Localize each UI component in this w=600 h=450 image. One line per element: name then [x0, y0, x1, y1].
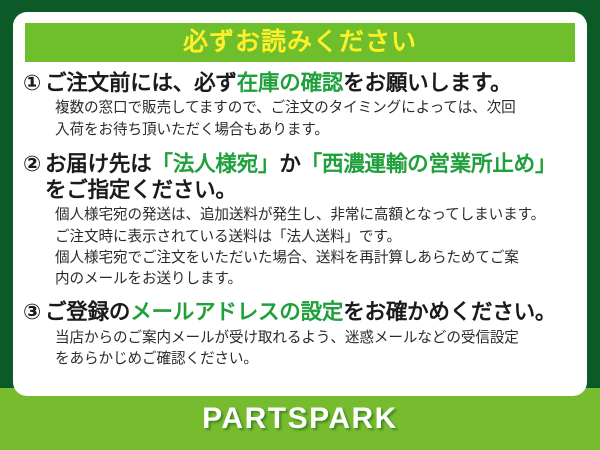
- title-banner: 必ずお読みください: [25, 23, 575, 62]
- notice-item-marker: ②: [23, 151, 41, 177]
- heading-text: をご指定ください。: [45, 178, 237, 202]
- notice-panel: 必ずお読みください ①ご注文前には、必ず在庫の確認をお願いします。複数の窓口で販…: [13, 12, 587, 396]
- notice-item-body: 個人様宅宛の発送は、追加送料が発生し、非常に高額となってしまいます。ご注文時に表…: [23, 205, 577, 290]
- notice-item: ①ご注文前には、必ず在庫の確認をお願いします。複数の窓口で販売してますので、ご注…: [23, 70, 577, 141]
- notice-item-marker: ③: [23, 299, 41, 325]
- heading-text: お届け先は: [45, 152, 152, 176]
- brand-footer: PARTSPARK: [0, 388, 600, 450]
- heading-text: か: [279, 152, 300, 176]
- notice-item-body: 複数の窓口で販売してますので、ご注文のタイミングによっては、次回入荷をお待ち頂い…: [23, 98, 577, 141]
- highlighted-phrase: 「法人様宛」: [152, 152, 280, 176]
- brand-name: PARTSPARK: [202, 402, 398, 436]
- notice-item-body-line: 複数の窓口で販売してますので、ご注文のタイミングによっては、次回: [55, 98, 577, 119]
- banner-title: 必ずお読みください: [183, 30, 417, 55]
- notice-item-heading: ①ご注文前には、必ず在庫の確認をお願いします。: [23, 70, 577, 96]
- notice-item-heading: ②お届け先は「法人様宛」か「西濃運輸の営業所止め」をご指定ください。: [23, 151, 577, 203]
- notice-item-body-line: 内のメールをお送りします。: [55, 269, 577, 290]
- highlighted-phrase: 「西濃運輸の営業所止め」: [301, 152, 557, 176]
- heading-text: ご登録の: [45, 300, 130, 324]
- notice-item-body-line: 入荷をお待ち頂いただく場合もあります。: [55, 120, 577, 141]
- heading-text: をお願いします。: [343, 71, 511, 95]
- notice-item-body-line: 個人様宅宛の発送は、追加送料が発生し、非常に高額となってしまいます。: [55, 205, 577, 226]
- notice-item: ③ご登録のメールアドレスの設定をお確かめください。当店からのご案内メールが受け取…: [23, 299, 577, 370]
- heading-text: ご注文前には、必ず: [45, 71, 237, 95]
- notice-item-body-line: ご注文時に表示されている送料は「法人送料」です。: [55, 227, 577, 248]
- notice-item-body-line: 個人様宅宛でご注文をいただいた場合、送料を再計算しあらためてご案: [55, 248, 577, 269]
- highlighted-phrase: 在庫の確認: [237, 71, 344, 95]
- notice-item-body-line: 当店からのご案内メールが受け取れるよう、迷惑メールなどの受信設定: [55, 328, 577, 349]
- notice-item-heading: ③ご登録のメールアドレスの設定をお確かめください。: [23, 299, 577, 325]
- notice-item-body: 当店からのご案内メールが受け取れるよう、迷惑メールなどの受信設定をあらかじめご確…: [23, 328, 577, 371]
- notice-item-list: ①ご注文前には、必ず在庫の確認をお願いします。複数の窓口で販売してますので、ご注…: [13, 62, 587, 370]
- notice-item-body-line: をあらかじめご確認ください。: [55, 349, 577, 370]
- notice-item: ②お届け先は「法人様宛」か「西濃運輸の営業所止め」をご指定ください。個人様宅宛の…: [23, 151, 577, 291]
- notice-poster: 必ずお読みください ①ご注文前には、必ず在庫の確認をお願いします。複数の窓口で販…: [0, 0, 600, 450]
- highlighted-phrase: メールアドレスの設定: [130, 300, 343, 324]
- heading-text: をお確かめください。: [343, 300, 556, 324]
- notice-item-marker: ①: [23, 70, 41, 96]
